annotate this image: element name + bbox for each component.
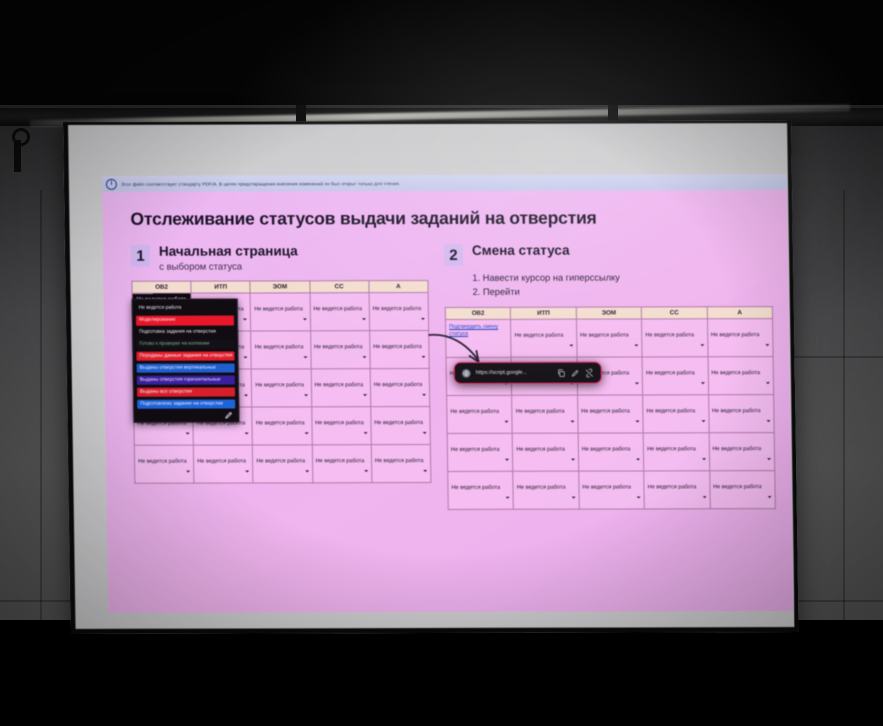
chevron-down-icon[interactable] <box>186 432 190 434</box>
status-cell[interactable]: Не ведется работа <box>642 357 708 395</box>
chevron-down-icon[interactable] <box>636 459 640 461</box>
chevron-down-icon[interactable] <box>637 497 641 499</box>
status-cell-value: Не ведется работа <box>315 409 367 427</box>
status-cell-value: Не ведется работа <box>516 398 575 416</box>
status-cell-value: Не ведется работа <box>372 295 425 313</box>
status-cell[interactable]: Не ведется работа <box>134 445 194 483</box>
dropdown-option-5[interactable]: Выданы отверстия вертикальные <box>137 363 235 373</box>
wall-seam <box>843 190 845 620</box>
status-cell[interactable]: Не ведется работа <box>371 444 431 482</box>
status-cell[interactable]: Не ведется работа <box>708 357 774 395</box>
status-cell[interactable]: Не ведется работа <box>579 471 645 509</box>
section-title: Начальная страница <box>159 245 298 260</box>
dropdown-option-3[interactable]: Готово к проверке на коллизии <box>136 340 234 350</box>
status-cell-value: Не ведется работа <box>315 447 367 465</box>
status-cell[interactable]: Не ведется работа <box>513 433 579 471</box>
chevron-down-icon[interactable] <box>246 470 250 472</box>
status-cell[interactable]: Не ведется работа <box>576 319 642 357</box>
status-cell-value: Не ведется работа <box>256 447 308 465</box>
info-icon: i <box>106 178 117 189</box>
dropdown-option-1[interactable]: Моделирование <box>136 316 234 326</box>
dropdown-option-0[interactable]: Не ведется работа <box>136 304 234 314</box>
status-cell[interactable]: Не ведется работа <box>643 395 709 433</box>
status-cell-value: Не ведется работа <box>197 447 249 465</box>
chevron-down-icon[interactable] <box>636 421 640 423</box>
status-cell[interactable]: Не ведется работа <box>251 331 311 369</box>
chevron-down-icon[interactable] <box>701 420 705 422</box>
status-cell-value: Не ведется работа <box>647 473 706 491</box>
status-cell[interactable]: Не ведется работа <box>709 433 775 471</box>
status-cell[interactable]: Не ведется работа <box>252 369 312 407</box>
status-cell[interactable]: Не ведется работа <box>447 433 513 471</box>
chevron-down-icon[interactable] <box>244 356 248 358</box>
chevron-down-icon[interactable] <box>635 345 639 347</box>
wall-seam <box>40 190 42 620</box>
photo-scene: i Этот файл соответствует стандарту PDF/… <box>0 0 883 726</box>
status-cell[interactable]: Не ведется работа <box>513 471 579 509</box>
section-2-steps: 1. Навести курсор на гиперссылку 2. Пере… <box>472 271 772 299</box>
chevron-down-icon[interactable] <box>302 318 306 320</box>
chevron-down-icon[interactable] <box>244 394 248 396</box>
status-dropdown-menu[interactable]: Не ведется работаМоделированиеПодготовка… <box>132 299 240 423</box>
status-cell[interactable]: Не ведется работа <box>311 407 371 445</box>
status-cell-value: Не ведется работа <box>645 321 704 339</box>
status-cell-value: Не ведется работа <box>138 447 190 465</box>
status-cell-value: Не ведется работа <box>254 295 306 313</box>
step-item: 1. Навести курсор на гиперссылку <box>472 271 772 285</box>
screen-frame <box>63 120 791 125</box>
pencil-icon[interactable] <box>224 411 233 420</box>
chevron-down-icon[interactable] <box>700 382 704 384</box>
chevron-down-icon[interactable] <box>186 470 190 472</box>
status-cell-value: Не ведется работа <box>517 474 576 492</box>
column-header-а: А <box>707 307 773 319</box>
status-cell-value: Не ведется работа <box>712 397 771 415</box>
table-row: Не ведется работаНе ведется работаНе вед… <box>448 471 776 510</box>
section-subtitle: с выбором статуса <box>159 261 298 272</box>
chevron-down-icon[interactable] <box>422 356 426 358</box>
chevron-down-icon[interactable] <box>505 421 509 423</box>
chevron-down-icon[interactable] <box>421 318 425 320</box>
table-row: Подтвердить смену статусаНе ведется рабо… <box>445 319 773 358</box>
chevron-down-icon[interactable] <box>305 470 309 472</box>
column-header-ов2: ОВ2 <box>445 308 511 320</box>
chevron-down-icon[interactable] <box>364 470 368 472</box>
chevron-down-icon[interactable] <box>363 432 367 434</box>
dropdown-option-4[interactable]: Переданы данные задания на отверстия <box>136 351 234 361</box>
page-title: Отслеживание статусов выдачи заданий на … <box>130 208 771 229</box>
status-cell[interactable]: Не ведется работа <box>642 319 708 357</box>
section-1: 1 Начальная страница с выбором статуса О… <box>131 244 432 511</box>
status-cell-value: Не ведется работа <box>582 474 641 492</box>
status-cell[interactable]: Не ведется работа <box>447 395 513 433</box>
dropdown-option-8[interactable]: Подготовлено задание на отверстия <box>137 399 235 409</box>
section-number-badge: 2 <box>444 244 463 266</box>
section-number-badge: 1 <box>131 245 150 267</box>
copy-link-icon[interactable] <box>557 368 566 377</box>
chevron-down-icon[interactable] <box>362 318 366 320</box>
status-cell[interactable]: Не ведется работа <box>577 395 643 433</box>
chevron-down-icon[interactable] <box>702 496 706 498</box>
status-cell-value: Не ведется работа <box>373 371 426 389</box>
chevron-down-icon[interactable] <box>423 470 427 472</box>
chevron-down-icon[interactable] <box>304 432 308 434</box>
status-cell[interactable]: Не ведется работа <box>708 395 774 433</box>
status-cell-value: Не ведется работа <box>313 295 365 313</box>
status-cell[interactable]: Не ведется работа <box>312 444 372 482</box>
chevron-down-icon[interactable] <box>363 394 367 396</box>
status-cell[interactable]: Не ведется работа <box>253 445 313 483</box>
status-cell-value: Не ведется работа <box>647 435 706 453</box>
column-header-а: А <box>369 280 428 292</box>
column-header-итп: ИТП <box>191 281 250 293</box>
status-cell-value: Не ведется работа <box>711 359 770 377</box>
dropdown-option-6[interactable]: Выданы отверстия горизонтальные <box>137 375 235 385</box>
link-preview-popup[interactable]: https://script.google... <box>454 362 602 384</box>
status-cell-value: Не ведется работа <box>374 409 427 427</box>
table-row: Не ведется работаНе ведется работаНе вед… <box>134 444 431 483</box>
status-cell-value: Не ведется работа <box>255 333 307 351</box>
chevron-down-icon[interactable] <box>505 459 509 461</box>
status-cell[interactable]: Не ведется работа <box>578 433 644 471</box>
status-cell[interactable]: Не ведется работа <box>644 471 710 509</box>
step-item: 2. Перейти <box>472 285 772 299</box>
status-cell-value: Не ведется работа <box>581 436 640 454</box>
status-cell-value: Не ведется работа <box>314 371 366 389</box>
column-header-эом: ЭОМ <box>250 281 309 293</box>
wall-hook <box>8 128 26 172</box>
status-cell-value: Не ведется работа <box>451 436 510 454</box>
status-cell-value: Не ведется работа <box>581 398 640 416</box>
status-cell-value: Не ведется работа <box>255 371 307 389</box>
table-header-row: ОВ2ИТПЭОМССА <box>445 307 772 320</box>
status-cell[interactable]: Не ведется работа <box>370 368 430 406</box>
pdf-notification-text: Этот файл соответствует стандарту PDF/A.… <box>121 181 400 187</box>
status-cell-value: Не ведется работа <box>712 435 771 453</box>
chevron-down-icon[interactable] <box>768 496 772 498</box>
status-cell[interactable]: Не ведется работа <box>371 406 431 444</box>
section-2-header: 2 Смена статуса <box>444 243 772 266</box>
ceiling-dark-area <box>0 0 883 112</box>
status-cell-value: Не ведется работа <box>516 436 575 454</box>
chevron-down-icon[interactable] <box>303 356 307 358</box>
chevron-down-icon[interactable] <box>506 497 510 499</box>
status-cell-value: Не ведется работа <box>256 409 308 427</box>
chevron-down-icon[interactable] <box>570 421 574 423</box>
column-header-сс: СС <box>309 281 368 293</box>
status-cell[interactable]: Не ведется работа <box>448 471 514 509</box>
chevron-down-icon[interactable] <box>569 345 573 347</box>
chevron-down-icon[interactable] <box>767 458 771 460</box>
chevron-down-icon[interactable] <box>767 420 771 422</box>
status-cell[interactable]: Не ведется работа <box>311 369 371 407</box>
column-header-эом: ЭОМ <box>576 307 642 319</box>
status-cell[interactable]: Не ведется работа <box>709 471 775 509</box>
chevron-down-icon[interactable] <box>243 318 247 320</box>
chevron-down-icon[interactable] <box>571 459 575 461</box>
table-header-row: ОВ2ИТПЭОМССА <box>132 280 428 293</box>
status-cell[interactable]: Не ведется работа <box>310 331 370 369</box>
projector-screen: i Этот файл соответствует стандарту PDF/… <box>63 120 799 634</box>
status-cell[interactable]: Не ведется работа <box>193 445 253 483</box>
remove-link-icon[interactable] <box>585 368 594 377</box>
link-url-text: https://script.google... <box>476 370 552 376</box>
edit-link-icon[interactable] <box>571 368 580 377</box>
column-header-ов2: ОВ2 <box>132 281 191 293</box>
status-cell[interactable]: Не ведется работа <box>369 330 429 368</box>
globe-icon <box>462 369 471 378</box>
column-header-итп: ИТП <box>511 307 577 319</box>
dropdown-option-2[interactable]: Подготовка задания на отверстия <box>136 328 234 338</box>
chevron-down-icon[interactable] <box>571 497 575 499</box>
status-cell-value: Не ведется работа <box>373 333 426 351</box>
chevron-down-icon[interactable] <box>765 344 769 346</box>
chevron-down-icon[interactable] <box>245 432 249 434</box>
status-cell-value: Не ведется работа <box>646 397 705 415</box>
status-cell[interactable]: Не ведется работа <box>707 319 773 357</box>
pdf-readonly-notification: i Этот файл соответствует стандарту PDF/… <box>102 174 787 192</box>
status-cell-value: Не ведется работа <box>375 447 428 465</box>
slide-canvas: Отслеживание статусов выдачи заданий на … <box>102 190 793 613</box>
table-row: Не ведется работаНе ведется работаНе вед… <box>447 433 775 472</box>
status-cell-value: Не ведется работа <box>713 473 772 491</box>
chevron-down-icon[interactable] <box>362 356 366 358</box>
chevron-down-icon[interactable] <box>422 394 426 396</box>
status-cell[interactable]: Не ведется работа <box>512 395 578 433</box>
screen-frame <box>71 627 799 634</box>
section-1-header: 1 Начальная страница с выбором статуса <box>131 244 428 272</box>
status-cell[interactable]: Не ведется работа <box>252 407 312 445</box>
chevron-down-icon[interactable] <box>702 458 706 460</box>
status-cell-value: Не ведется работа <box>451 474 510 492</box>
status-cell-value: Не ведется работа <box>314 333 366 351</box>
status-cell-value: Не ведется работа <box>646 359 705 377</box>
status-cell[interactable]: Не ведется работа <box>310 293 370 331</box>
status-cell[interactable]: Не ведется работа <box>250 293 310 331</box>
dropdown-option-7[interactable]: Выданы все отверстия <box>137 387 235 397</box>
chevron-down-icon[interactable] <box>423 432 427 434</box>
chevron-down-icon[interactable] <box>766 382 770 384</box>
status-table-right[interactable]: ОВ2ИТПЭОМССА Подтвердить смену статусаНе… <box>445 306 776 510</box>
letterbox <box>0 660 883 726</box>
table-row: Не ведется работаНе ведется работаНе вед… <box>447 395 775 434</box>
status-cell[interactable]: Не ведется работа <box>643 433 709 471</box>
section-2: 2 Смена статуса 1. Навести курсор на гип… <box>444 243 776 510</box>
section-title: Смена статуса <box>472 244 570 259</box>
chevron-down-icon[interactable] <box>700 344 704 346</box>
status-cell-value: Не ведется работа <box>711 321 770 339</box>
status-cell-value: Не ведется работа <box>450 398 509 416</box>
status-cell[interactable]: Не ведется работа <box>511 319 577 357</box>
projected-application: i Этот файл соответствует стандарту PDF/… <box>102 174 794 613</box>
status-cell[interactable]: Не ведется работа <box>369 292 429 330</box>
chevron-down-icon[interactable] <box>304 394 308 396</box>
status-cell-value: Не ведется работа <box>580 322 639 340</box>
column-header-сс: СС <box>641 307 707 319</box>
chevron-down-icon[interactable] <box>635 383 639 385</box>
status-cell-value: Не ведется работа <box>514 322 573 340</box>
